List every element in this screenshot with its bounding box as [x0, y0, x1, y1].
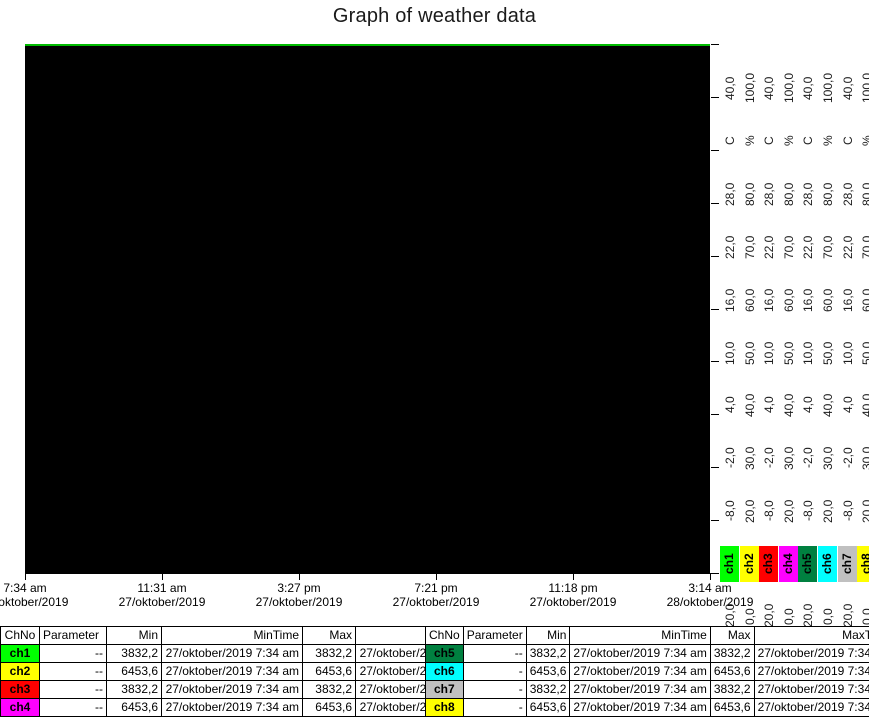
y-axis-column-ch2: 100,0%80,070,060,050,040,030,020,0ch20,0 [740, 44, 760, 573]
cell-parameter: -- [40, 699, 107, 717]
cell-mintime: 27/oktober/2019 7:34 am [570, 663, 710, 681]
cell-min: 6453,6 [526, 663, 570, 681]
y-tick-label-ch1-5: 10,0 [720, 331, 740, 375]
cell-mintime: 27/oktober/2019 7:34 am [162, 645, 303, 663]
table-row[interactable]: ch6-6453,627/oktober/2019 7:34 am6453,62… [426, 663, 869, 681]
y-tick-label-ch7-7: -2,0 [838, 436, 858, 480]
y-tick-label-ch6-0: 100,0 [818, 66, 838, 110]
y-tick-label-ch7-3: 22,0 [838, 225, 858, 269]
cell-parameter: - [463, 663, 526, 681]
y-tick-label-ch8-5: 50,0 [857, 331, 869, 375]
y-tick-label-ch1-2: 28,0 [720, 172, 740, 216]
legend-badge-ch6[interactable]: ch6 [818, 546, 837, 582]
header-chno[interactable]: ChNo [426, 627, 464, 645]
y-tick-label-ch6-8: 20,0 [818, 489, 838, 533]
y-tick-label-ch6-2: 80,0 [818, 172, 838, 216]
header-mintime[interactable]: MinTime [162, 627, 303, 645]
y-tick-label-ch5-1: C [798, 125, 818, 157]
y-tick-label-ch3-8: -8,0 [759, 489, 779, 533]
y-tick-label-ch5-8: -8,0 [798, 489, 818, 533]
y-tick-label-ch7-6: 4,0 [838, 389, 858, 421]
y-tick-label-ch3-1: C [759, 125, 779, 157]
y-tick-label-ch2-2: 80,0 [740, 172, 760, 216]
header-min[interactable]: Min [526, 627, 570, 645]
y-tick-label-ch8-1: % [857, 125, 869, 157]
cell-parameter: - [463, 699, 526, 717]
cell-chno: ch3 [1, 681, 40, 699]
y-axis-column-ch5: 40,0C28,022,016,010,04,0-2,0-8,0ch5-20,0 [798, 44, 818, 573]
cell-maxtime: 27/oktober/2019 7:34 am [754, 663, 869, 681]
legend-badge-ch4[interactable]: ch4 [779, 546, 798, 582]
table-row[interactable]: ch8-6453,627/oktober/2019 7:34 am6453,62… [426, 699, 869, 717]
y-tick-label-ch1-0: 40,0 [720, 66, 740, 110]
y-tick-label-ch3-3: 22,0 [759, 225, 779, 269]
header-chno[interactable]: ChNo [1, 627, 40, 645]
plot-area-wrapper[interactable] [25, 44, 710, 573]
cell-chno: ch2 [1, 663, 40, 681]
y-tick-label-ch8-2: 80,0 [857, 172, 869, 216]
y-tick-label-ch5-7: -2,0 [798, 436, 818, 480]
cell-parameter: -- [40, 645, 107, 663]
legend-badge-ch7[interactable]: ch7 [838, 546, 857, 582]
x-tick-4 [573, 573, 574, 580]
y-tick-label-ch6-6: 40,0 [818, 383, 838, 427]
plot-canvas[interactable] [25, 44, 710, 573]
cell-max: 6453,6 [710, 699, 754, 717]
cell-parameter: -- [463, 645, 526, 663]
y-tick-label-ch4-2: 80,0 [779, 172, 799, 216]
y-tick-label-ch8-3: 70,0 [857, 225, 869, 269]
x-tick-time: 7:21 pm [366, 581, 506, 595]
table-row[interactable]: ch7-3832,227/oktober/2019 7:34 am3832,22… [426, 681, 869, 699]
y-tick-label-ch3-6: 4,0 [759, 389, 779, 421]
y-axis-column-ch8: 100,0%80,070,060,050,040,030,020,0ch80,0 [857, 44, 869, 573]
cell-maxtime: 27/oktober/2019 7:34 am [754, 645, 869, 663]
cell-min: 3832,2 [107, 645, 162, 663]
cell-mintime: 27/oktober/2019 7:34 am [570, 681, 710, 699]
y-tick-label-ch8-0: 100,0 [857, 66, 869, 110]
y-tick-label-ch4-1: % [779, 125, 799, 157]
cell-maxtime: 27/oktober/2019 7:34 am [754, 681, 869, 699]
x-tick-label-2: 3:27 pm27/oktober/2019 [229, 581, 369, 609]
y-tick-label-ch8-8: 20,0 [857, 489, 869, 533]
y-tick-label-ch7-4: 16,0 [838, 278, 858, 322]
y-tick-label-ch1-1: C [720, 125, 740, 157]
header-maxtime[interactable]: MaxTime [754, 627, 869, 645]
y-tick-6 [711, 361, 719, 362]
x-tick-2 [299, 573, 300, 580]
cell-min: 6453,6 [526, 699, 570, 717]
y-tick-9 [711, 520, 719, 521]
cell-max: 3832,2 [303, 645, 356, 663]
y-tick-label-ch2-7: 30,0 [740, 436, 760, 480]
weather-graph-page: Graph of weather data 7:34 am27/oktober/… [0, 0, 869, 718]
y-tick-label-ch7-5: 10,0 [838, 331, 858, 375]
y-tick-label-ch3-5: 10,0 [759, 331, 779, 375]
y-tick-label-ch8-7: 30,0 [857, 436, 869, 480]
y-tick-label-ch2-0: 100,0 [740, 66, 760, 110]
y-tick-label-ch1-8: -8,0 [720, 489, 740, 533]
y-tick-3 [711, 203, 719, 204]
table-row[interactable]: ch5--3832,227/oktober/2019 7:34 am3832,2… [426, 645, 869, 663]
cell-max: 3832,2 [710, 681, 754, 699]
cell-parameter: - [463, 681, 526, 699]
cell-chno: ch5 [426, 645, 464, 663]
y-tick-label-ch8-4: 60,0 [857, 278, 869, 322]
x-tick-date: 27/oktober/2019 [229, 595, 369, 609]
legend-badge-ch5[interactable]: ch5 [798, 546, 817, 582]
y-tick-label-ch7-8: -8,0 [838, 489, 858, 533]
cell-maxtime: 27/oktober/2019 7:34 am [754, 699, 869, 717]
y-tick-label-ch4-4: 60,0 [779, 278, 799, 322]
legend-badge-ch8[interactable]: ch8 [857, 546, 869, 582]
cell-mintime: 27/oktober/2019 7:34 am [570, 699, 710, 717]
cell-chno: ch6 [426, 663, 464, 681]
y-axis-column-ch3: 40,0C28,022,016,010,04,0-2,0-8,0ch3-20,0 [759, 44, 779, 573]
header-max[interactable]: Max [710, 627, 754, 645]
x-tick-time: 7:34 am [0, 581, 95, 595]
y-tick-label-ch2-5: 50,0 [740, 331, 760, 375]
x-tick-date: 27/oktober/2019 [0, 595, 95, 609]
y-tick-label-ch3-0: 40,0 [759, 66, 779, 110]
header-mintime[interactable]: MinTime [570, 627, 710, 645]
channel-stats-table-right[interactable]: ChNo Parameter Min MinTime Max MaxTime U… [425, 626, 869, 717]
x-tick-time: 3:14 am [640, 581, 780, 595]
cell-mintime: 27/oktober/2019 7:34 am [570, 645, 710, 663]
cell-min: 3832,2 [526, 645, 570, 663]
y-tick-label-ch4-5: 50,0 [779, 331, 799, 375]
legend-badge-ch1[interactable]: ch1 [720, 546, 739, 582]
y-tick-4 [711, 256, 719, 257]
x-tick-date: 27/oktober/2019 [92, 595, 232, 609]
y-tick-label-ch1-7: -2,0 [720, 436, 740, 480]
x-tick-1 [162, 573, 163, 580]
y-tick-label-ch5-2: 28,0 [798, 172, 818, 216]
legend-badge-ch3[interactable]: ch3 [759, 546, 778, 582]
y-tick-label-ch2-1: % [740, 125, 760, 157]
y-axis-column-ch6: 100,0%80,070,060,050,040,030,020,0ch60,0 [818, 44, 838, 573]
y-axis-column-ch1: 40,0C28,022,016,010,04,0-2,0-8,0ch1-20,0 [720, 44, 740, 573]
y-tick-label-ch6-5: 50,0 [818, 331, 838, 375]
y-tick-label-ch3-2: 28,0 [759, 172, 779, 216]
y-tick-label-ch7-0: 40,0 [838, 66, 858, 110]
cell-min: 3832,2 [107, 681, 162, 699]
y-tick-7 [711, 414, 719, 415]
y-tick-label-ch3-7: -2,0 [759, 436, 779, 480]
cell-min: 3832,2 [526, 681, 570, 699]
y-tick-label-ch4-0: 100,0 [779, 66, 799, 110]
y-tick-label-ch5-0: 40,0 [798, 66, 818, 110]
y-tick-label-ch5-3: 22,0 [798, 225, 818, 269]
y-tick-1 [711, 97, 719, 98]
y-tick-label-ch2-6: 40,0 [740, 383, 760, 427]
x-tick-0 [25, 573, 26, 580]
x-tick-time: 3:27 pm [229, 581, 369, 595]
y-tick-2 [711, 150, 719, 151]
y-tick-label-ch2-8: 20,0 [740, 489, 760, 533]
y-tick-label-ch6-4: 60,0 [818, 278, 838, 322]
header-parameter[interactable]: Parameter [40, 627, 107, 645]
x-tick-date: 27/oktober/2019 [503, 595, 643, 609]
y-tick-label-ch4-7: 30,0 [779, 436, 799, 480]
y-tick-label-ch6-1: % [818, 125, 838, 157]
page-title: Graph of weather data [0, 5, 869, 28]
series-line-ch1 [25, 44, 710, 46]
y-tick-label-ch1-6: 4,0 [720, 389, 740, 421]
y-tick-10 [711, 573, 719, 574]
cell-chno: ch4 [1, 699, 40, 717]
y-tick-label-ch4-3: 70,0 [779, 225, 799, 269]
y-tick-label-ch5-6: 4,0 [798, 389, 818, 421]
cell-max: 3832,2 [303, 681, 356, 699]
y-tick-label-ch5-5: 10,0 [798, 331, 818, 375]
x-tick-time: 11:18 pm [503, 581, 643, 595]
cell-max: 3832,2 [710, 645, 754, 663]
cell-mintime: 27/oktober/2019 7:34 am [162, 681, 303, 699]
y-tick-label-ch7-1: C [838, 125, 858, 157]
x-tick-5 [710, 573, 711, 580]
y-tick-label-ch2-3: 70,0 [740, 225, 760, 269]
cell-max: 6453,6 [303, 699, 356, 717]
cell-min: 6453,6 [107, 663, 162, 681]
y-tick-5 [711, 309, 719, 310]
x-tick-date: 27/oktober/2019 [366, 595, 506, 609]
cell-parameter: -- [40, 663, 107, 681]
cell-max: 6453,6 [710, 663, 754, 681]
cell-chno: ch1 [1, 645, 40, 663]
x-axis-line [25, 573, 710, 574]
x-tick-label-1: 11:31 am27/oktober/2019 [92, 581, 232, 609]
y-tick-label-ch4-8: 20,0 [779, 489, 799, 533]
x-tick-label-3: 7:21 pm27/oktober/2019 [366, 581, 506, 609]
y-tick-label-ch2-4: 60,0 [740, 278, 760, 322]
y-tick-label-ch3-4: 16,0 [759, 278, 779, 322]
header-min[interactable]: Min [107, 627, 162, 645]
table-header-row: ChNo Parameter Min MinTime Max MaxTime U… [426, 627, 869, 645]
y-tick-label-ch5-4: 16,0 [798, 278, 818, 322]
x-tick-label-4: 11:18 pm27/oktober/2019 [503, 581, 643, 609]
x-tick-label-0: 7:34 am27/oktober/2019 [0, 581, 95, 609]
header-max[interactable]: Max [303, 627, 356, 645]
y-tick-label-ch8-6: 40,0 [857, 383, 869, 427]
cell-min: 6453,6 [107, 699, 162, 717]
cell-max: 6453,6 [303, 663, 356, 681]
y-axis-column-ch7: 40,0C28,022,016,010,04,0-2,0-8,0ch7-20,0 [838, 44, 858, 573]
cell-mintime: 27/oktober/2019 7:34 am [162, 663, 303, 681]
y-tick-0 [711, 44, 719, 45]
cell-chno: ch8 [426, 699, 464, 717]
cell-parameter: -- [40, 681, 107, 699]
x-tick-3 [436, 573, 437, 580]
y-tick-8 [711, 467, 719, 468]
y-tick-label-ch7-2: 28,0 [838, 172, 858, 216]
y-tick-label-ch6-7: 30,0 [818, 436, 838, 480]
legend-badge-ch2[interactable]: ch2 [740, 546, 759, 582]
cell-mintime: 27/oktober/2019 7:34 am [162, 699, 303, 717]
x-tick-time: 11:31 am [92, 581, 232, 595]
y-tick-label-ch1-4: 16,0 [720, 278, 740, 322]
y-axis-column-ch4: 100,0%80,070,060,050,040,030,020,0ch40,0 [779, 44, 799, 573]
header-parameter[interactable]: Parameter [463, 627, 526, 645]
y-tick-label-ch6-3: 70,0 [818, 225, 838, 269]
y-tick-label-ch4-6: 40,0 [779, 383, 799, 427]
cell-chno: ch7 [426, 681, 464, 699]
y-tick-label-ch1-3: 22,0 [720, 225, 740, 269]
